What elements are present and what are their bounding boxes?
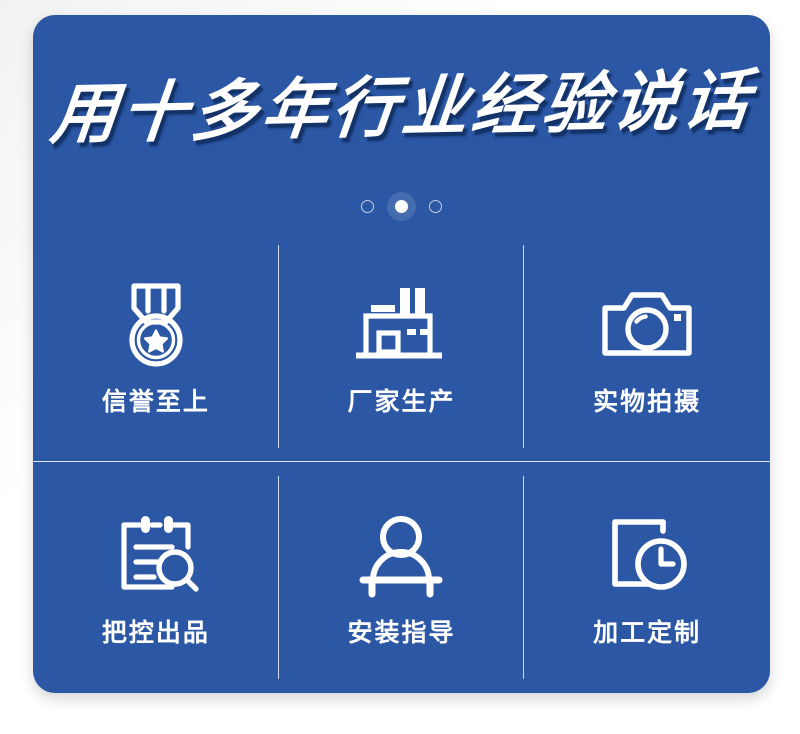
feature-label-photos: 实物拍摄 [593, 390, 701, 415]
person-install-icon [348, 509, 454, 601]
camera-icon [594, 278, 700, 370]
feature-label-reputation: 信誉至上 [102, 390, 210, 415]
feature-label-customization: 加工定制 [593, 621, 701, 646]
feature-cell-installation[interactable]: 安装指导 [279, 462, 525, 693]
feature-grid: 信誉至上 厂家生产 [33, 231, 770, 693]
carousel-dot-2-active[interactable] [395, 200, 408, 213]
promo-banner-panel: 用十多年行业经验说话 信誉至上 [33, 15, 770, 693]
carousel-dot-1[interactable] [361, 200, 374, 213]
feature-cell-reputation[interactable]: 信誉至上 [33, 231, 279, 462]
carousel-dot-3[interactable] [429, 200, 442, 213]
page-title: 用十多年行业经验说话 [47, 64, 756, 153]
feature-cell-quality-control[interactable]: 把控出品 [33, 462, 279, 693]
factory-icon [348, 278, 454, 370]
medal-icon [103, 278, 209, 370]
feature-cell-customization[interactable]: 加工定制 [524, 462, 770, 693]
feature-label-factory: 厂家生产 [347, 390, 455, 415]
feature-label-installation: 安装指导 [347, 621, 455, 646]
feature-label-quality-control: 把控出品 [102, 621, 210, 646]
feature-cell-photos[interactable]: 实物拍摄 [524, 231, 770, 462]
headline-container: 用十多年行业经验说话 [33, 71, 770, 145]
feature-cell-factory[interactable]: 厂家生产 [279, 231, 525, 462]
document-clock-icon [594, 509, 700, 601]
carousel-dots[interactable] [33, 200, 770, 213]
clipboard-search-icon [103, 509, 209, 601]
